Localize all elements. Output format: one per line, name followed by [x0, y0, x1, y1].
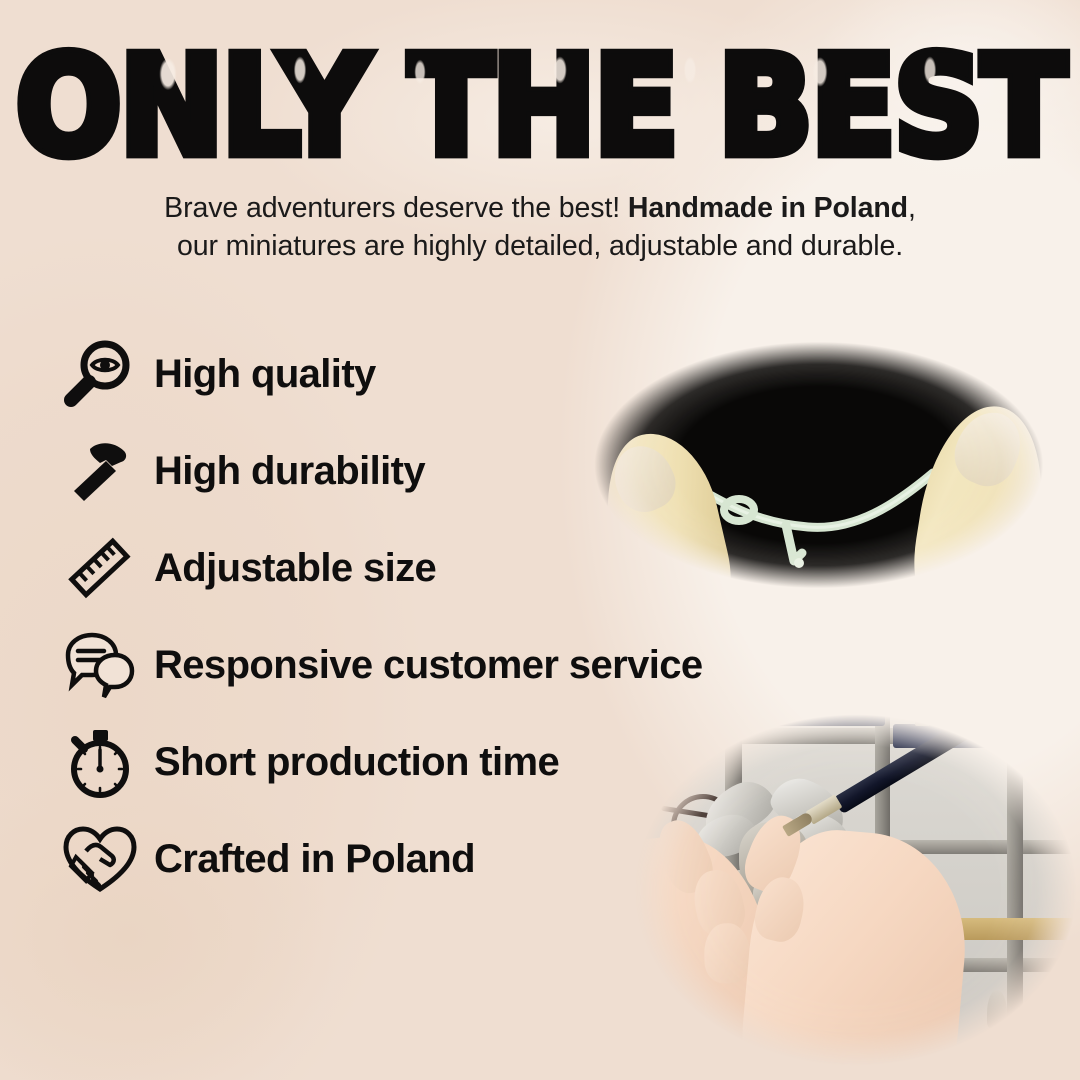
feature-item: Responsive customer service — [62, 617, 782, 714]
subtitle-line2: our miniatures are highly detailed, adju… — [177, 230, 903, 262]
subtitle-comma: , — [908, 192, 916, 224]
feature-item: Short production time — [62, 714, 782, 811]
feature-list: High quality High durability — [62, 326, 782, 908]
lone-miniature — [987, 990, 1007, 1028]
promo-graphic: ONLY THE BEST Brave adventurers deserve … — [0, 0, 1080, 1080]
ruler-icon — [62, 530, 154, 608]
feature-label: High durability — [154, 449, 425, 494]
magnifier-eye-icon — [62, 336, 154, 414]
speech-bubbles-icon — [62, 627, 154, 705]
hammer-icon — [62, 433, 154, 511]
feature-label: Adjustable size — [154, 546, 436, 591]
feature-item: Adjustable size — [62, 520, 782, 617]
feature-label: Crafted in Poland — [154, 837, 475, 882]
subtitle-emphasis: Handmade in Poland — [628, 192, 908, 224]
feature-label: Short production time — [154, 740, 559, 785]
subtitle-lead: Brave adventurers deserve the best! — [164, 192, 628, 224]
feature-item: High durability — [62, 423, 782, 520]
feature-label: Responsive customer service — [154, 643, 703, 688]
page-title: ONLY THE BEST — [0, 38, 1080, 175]
subtitle: Brave adventurers deserve the best! Hand… — [60, 190, 1020, 266]
feature-item: Crafted in Poland — [62, 811, 782, 908]
heart-handshake-icon — [62, 821, 154, 899]
feature-item: High quality — [62, 326, 782, 423]
stopwatch-icon — [62, 724, 154, 802]
feature-label: High quality — [154, 352, 376, 397]
